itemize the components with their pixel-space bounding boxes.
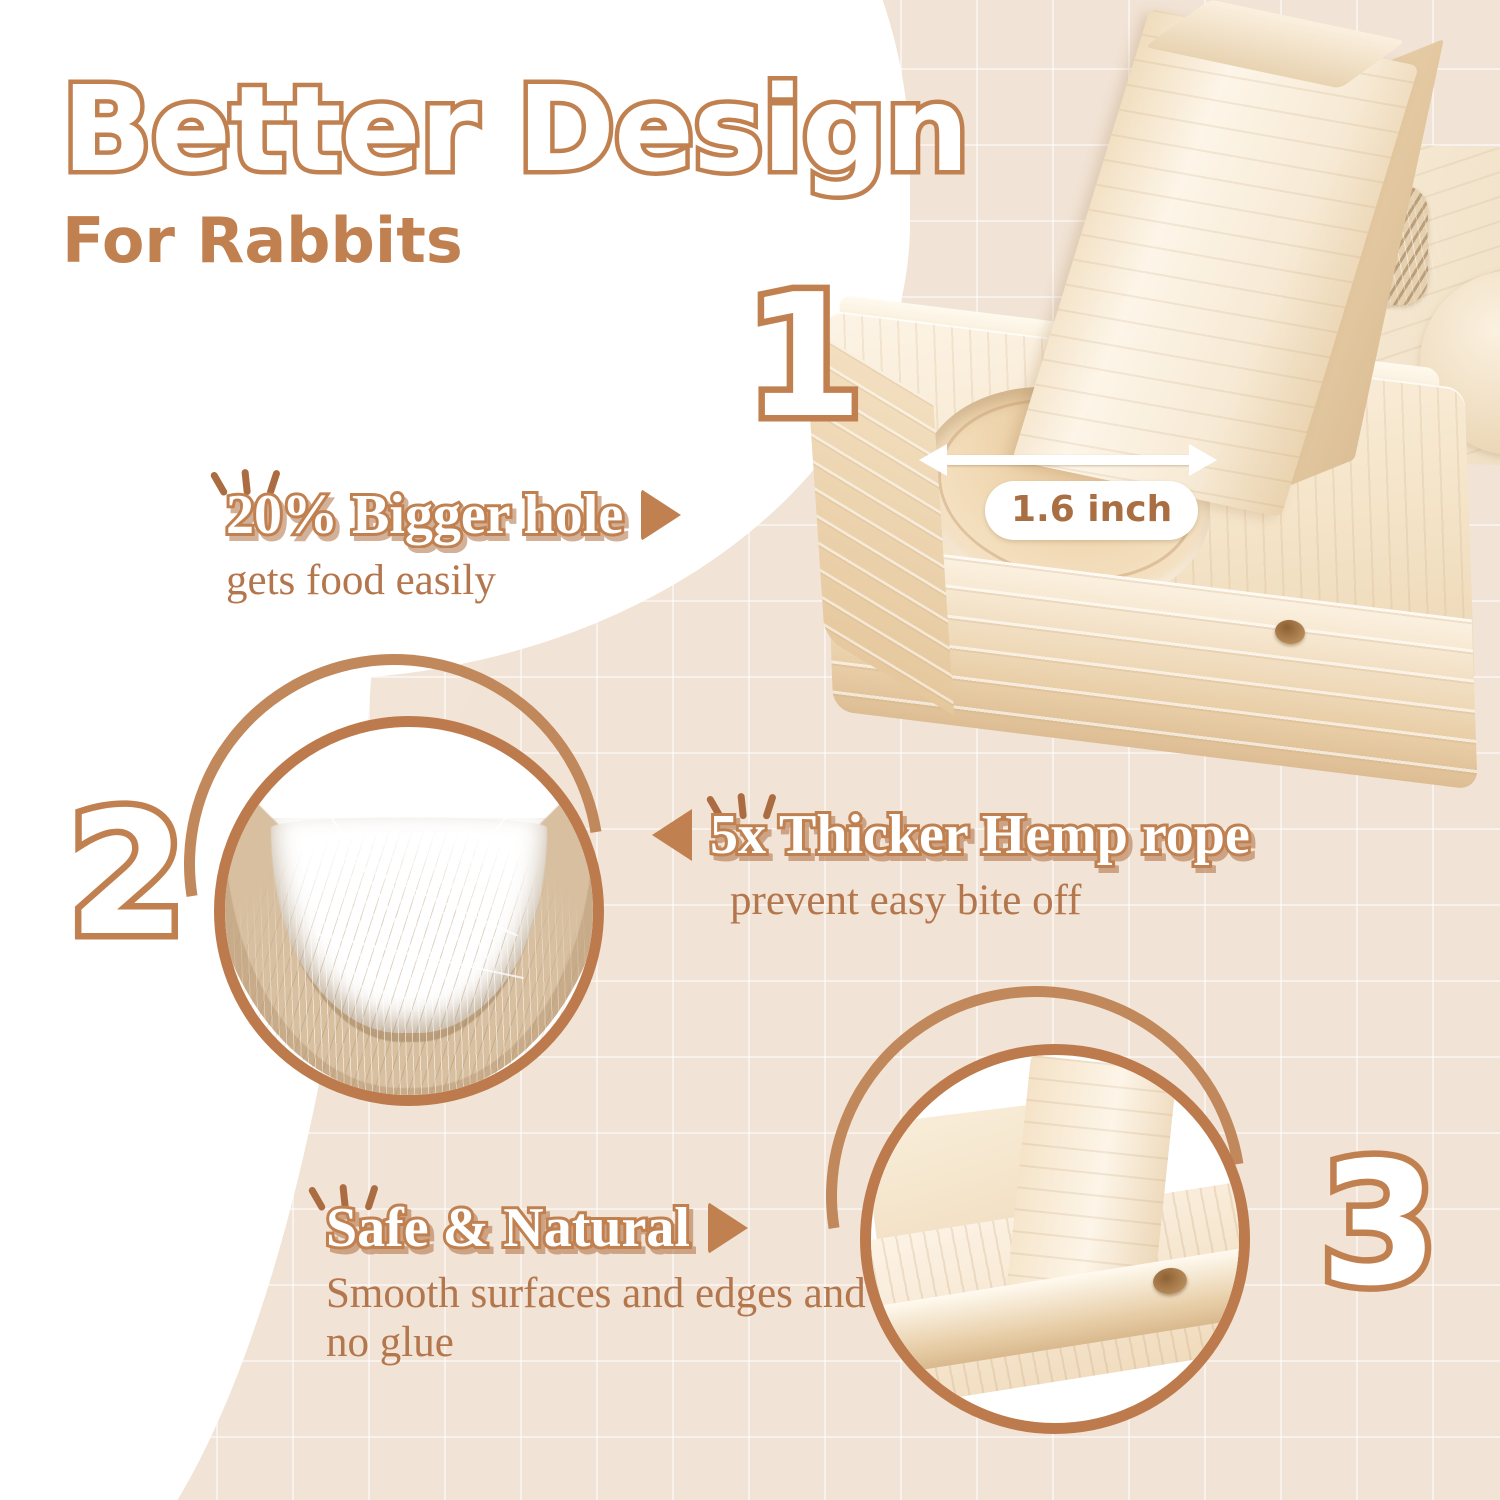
double-headed-arrow-icon (945, 455, 1191, 465)
arrow-head-left-icon (919, 444, 947, 476)
triangle-right-icon (708, 1202, 748, 1254)
feature-1-subtext: gets food easily (226, 557, 681, 605)
feature-2-subtext: prevent easy bite off (730, 877, 1250, 925)
arrow-head-right-icon (1189, 444, 1217, 476)
step-number-2: 2 (68, 790, 186, 960)
feature-2-headline: 5x Thicker Hemp rope (710, 805, 1250, 865)
feature-2-text-block: 5x Thicker Hemp rope prevent easy bite o… (652, 805, 1250, 926)
measurement-label: 1.6 inch (985, 481, 1198, 540)
feature-3-headline: Safe & Natural (326, 1198, 690, 1258)
feature-3-photo-frame (818, 990, 1288, 1460)
feature-1-text-block: 20% Bigger hole gets food easily (226, 485, 681, 606)
infographic-canvas: 1.6 inch Better Design For Rabbits 1 2 3… (0, 0, 1500, 1500)
wooden-edge-photo (860, 1044, 1250, 1434)
feature-3-subtext: Smooth surfaces and edges and no glue (326, 1270, 886, 1366)
hemp-rope-photo (214, 716, 604, 1106)
step-number-3: 3 (1320, 1140, 1438, 1310)
rope-fiber-texture (225, 727, 593, 1095)
feature-3-text-block: Safe & Natural Smooth surfaces and edges… (326, 1198, 886, 1367)
hemp-rope-artwork (225, 727, 593, 1095)
page-title: Better Design (62, 70, 968, 188)
feature-2-photo-frame (180, 660, 650, 1130)
step-number-1: 1 (745, 272, 863, 442)
feature-1-headline: 20% Bigger hole (226, 485, 623, 545)
header-block: Better Design For Rabbits (62, 70, 968, 277)
triangle-right-icon (641, 489, 681, 541)
triangle-left-icon (652, 809, 692, 861)
